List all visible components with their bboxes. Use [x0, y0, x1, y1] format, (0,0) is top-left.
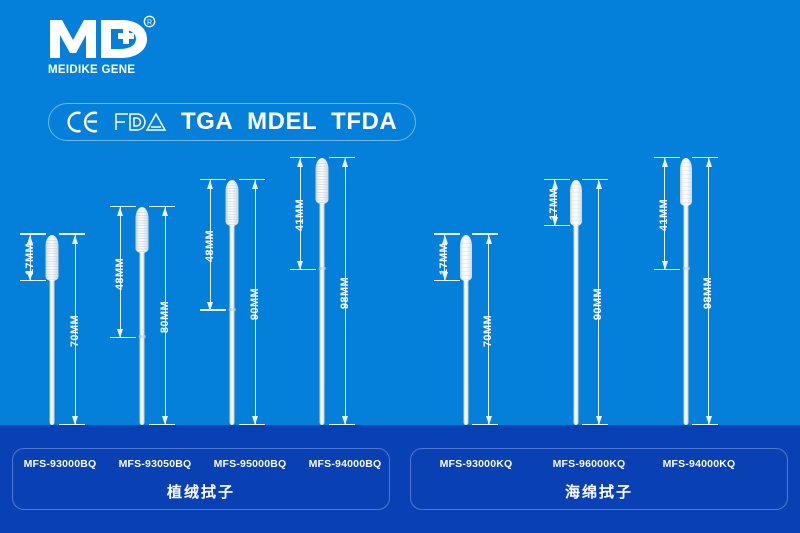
- dimension-tick: [239, 179, 265, 180]
- swab-tip-flocked: [136, 207, 149, 253]
- swab-tip-sponge: [570, 180, 582, 226]
- swab-tip-flocked: [226, 180, 239, 226]
- swab-figure: 41MM98MM: [641, 144, 731, 425]
- dimension-label-total-length: 98MM: [702, 263, 714, 323]
- dimension-label-tip-length: 17MM: [24, 229, 36, 289]
- dimension-tick: [329, 157, 355, 158]
- dimension-tick: [110, 206, 136, 207]
- dimension-tick: [149, 424, 175, 425]
- swab-tip-flocked: [316, 158, 329, 204]
- dimension-arrow-up: [117, 207, 123, 216]
- swab-unit: 17MM70MM: [7, 221, 97, 425]
- dimension-label-total-length: 98MM: [339, 263, 351, 323]
- dimension-arrow-up: [486, 235, 492, 244]
- sponge-model-row: MFS-93000KQMFS-96000KQMFS-94000KQ: [411, 449, 787, 479]
- swab-figure: 17MM90MM: [531, 166, 621, 425]
- dimension-label-total-length: 90MM: [592, 274, 604, 334]
- model-number: MFS-93050BQ: [119, 458, 192, 470]
- swab-breakpoint-notch: [139, 335, 146, 338]
- dimension-tick: [472, 424, 498, 425]
- model-number: MFS-93000BQ: [24, 458, 97, 470]
- dimension-label-tip-length: 48MM: [114, 244, 126, 304]
- dimension-arrow-up: [297, 158, 303, 167]
- dimension-tick: [239, 424, 265, 425]
- flocked-model-box: MFS-93000BQMFS-93050BQMFS-95000BQMFS-940…: [12, 448, 390, 510]
- swab-unit: 17MM70MM: [421, 221, 511, 425]
- dimension-tick: [59, 233, 85, 234]
- model-number: MFS-93000KQ: [440, 458, 513, 470]
- swab-figure: 48MM90MM: [187, 166, 277, 425]
- swab-unit: 41MM98MM: [641, 144, 731, 425]
- swab-unit: 41MM98MM: [277, 144, 367, 425]
- dimension-tick: [582, 179, 608, 180]
- swab-figure: 41MM98MM: [277, 144, 367, 425]
- swab-tip-sponge: [460, 235, 472, 281]
- dimension-tick: [110, 337, 136, 338]
- dimension-label-tip-length: 48MM: [204, 216, 216, 276]
- dimension-label-total-length: 70MM: [69, 301, 81, 361]
- dimension-arrow-up: [342, 158, 348, 167]
- swab-breakpoint-notch: [229, 308, 236, 311]
- dimension-label-tip-length: 41MM: [658, 185, 670, 245]
- dimension-tick: [329, 424, 355, 425]
- dimension-arrow-up: [662, 158, 668, 167]
- product-spec-poster: R MEIDIKE GENE: [0, 0, 800, 533]
- swab-breakpoint-notch: [319, 267, 326, 270]
- dimension-tick: [290, 269, 316, 270]
- swab-breakpoint-notch: [683, 267, 690, 270]
- swab-unit: 48MM80MM: [97, 193, 187, 425]
- dimension-tick: [654, 269, 680, 270]
- dimension-label-total-length: 80MM: [159, 287, 171, 347]
- swab-tip-flocked: [46, 235, 59, 281]
- dimension-tick: [200, 179, 226, 180]
- dimension-tick: [472, 233, 498, 234]
- dimension-arrow-up: [207, 180, 213, 189]
- dimension-arrow-up: [706, 158, 712, 167]
- dimension-arrow-up: [72, 235, 78, 244]
- dimension-label-tip-length: 17MM: [438, 229, 450, 289]
- swab-figure: 17MM70MM: [421, 221, 511, 425]
- dimension-label-total-length: 70MM: [482, 301, 494, 361]
- swab-tip-sponge: [680, 158, 692, 206]
- sponge-category-label: 海绵拭子: [411, 481, 787, 502]
- model-number: MFS-94000KQ: [663, 458, 736, 470]
- dimension-tick: [582, 424, 608, 425]
- swab-figure: 48MM80MM: [97, 193, 187, 425]
- dimension-tick: [290, 157, 316, 158]
- dimension-arrow-up: [252, 180, 258, 189]
- flocked-model-row: MFS-93000BQMFS-93050BQMFS-95000BQMFS-940…: [13, 449, 389, 479]
- swab-figure: 17MM70MM: [7, 221, 97, 425]
- dimension-tick: [59, 424, 85, 425]
- dimension-tick: [149, 206, 175, 207]
- dimension-label-tip-length: 17MM: [548, 174, 560, 234]
- model-number: MFS-94000BQ: [309, 458, 382, 470]
- dimension-arrow-up: [162, 207, 168, 216]
- swab-unit: 17MM90MM: [531, 166, 621, 425]
- dimension-label-total-length: 90MM: [249, 274, 261, 334]
- flocked-category-label: 植绒拭子: [13, 481, 389, 502]
- dimension-tick: [654, 157, 680, 158]
- dimension-arrow-up: [596, 180, 602, 189]
- model-number: MFS-96000KQ: [553, 458, 626, 470]
- sponge-model-box: MFS-93000KQMFS-96000KQMFS-94000KQ 海绵拭子: [410, 448, 788, 510]
- model-number: MFS-95000BQ: [214, 458, 287, 470]
- dimension-tick: [692, 157, 718, 158]
- swab-unit: 48MM90MM: [187, 166, 277, 425]
- dimension-label-tip-length: 41MM: [294, 185, 306, 245]
- dimension-tick: [200, 309, 226, 310]
- dimension-tick: [692, 424, 718, 425]
